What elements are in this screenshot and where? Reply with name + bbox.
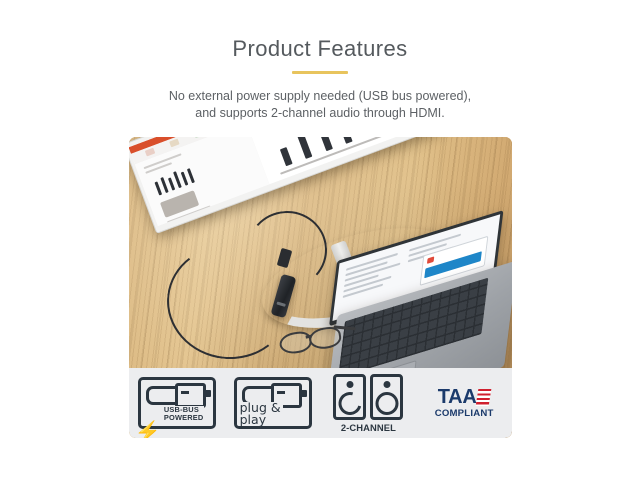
usb-plug-lightning-icon: ⚡ USB-BUS POWERED — [138, 377, 216, 429]
eyeglass-lens-right — [308, 325, 343, 351]
subtitle-line-2: and supports 2-channel audio through HDM… — [90, 105, 550, 122]
badge-label-line-1: TAA — [438, 388, 477, 407]
badge-label-line-2: play — [240, 414, 281, 426]
badge-two-channel: 2-CHANNEL — [321, 374, 417, 433]
title-divider — [292, 71, 348, 74]
speaker-icon-left — [333, 374, 366, 420]
badge-label: 2-CHANNEL — [333, 422, 403, 433]
product-feature-slide: Product Features No external power suppl… — [0, 0, 640, 480]
badge-label-line-2: POWERED — [164, 414, 204, 423]
usb-plug-icon: plug & play — [234, 377, 312, 429]
badge-plug-and-play: plug & play — [225, 377, 321, 429]
badge-label-line-2: COMPLIANT — [435, 408, 494, 419]
page-subtitle: No external power supply needed (USB bus… — [90, 88, 550, 122]
badge-taa-compliant: TAA COMPLIANT — [416, 388, 512, 419]
badge-usb-bus-powered: ⚡ USB-BUS POWERED — [129, 377, 225, 429]
speaker-icon-right — [370, 374, 403, 420]
taa-compliant-logo: TAA COMPLIANT — [435, 388, 494, 419]
feature-badge-bar: ⚡ USB-BUS POWERED plug & — [129, 368, 512, 438]
subtitle-line-1: No external power supply needed (USB bus… — [90, 88, 550, 105]
eyeglass-lens-left — [278, 330, 313, 356]
page-title: Product Features — [0, 36, 640, 62]
flag-icon — [476, 389, 492, 406]
stereo-speakers-icon: 2-CHANNEL — [333, 374, 403, 433]
product-photo: ⚡ USB-BUS POWERED plug & — [129, 137, 512, 438]
